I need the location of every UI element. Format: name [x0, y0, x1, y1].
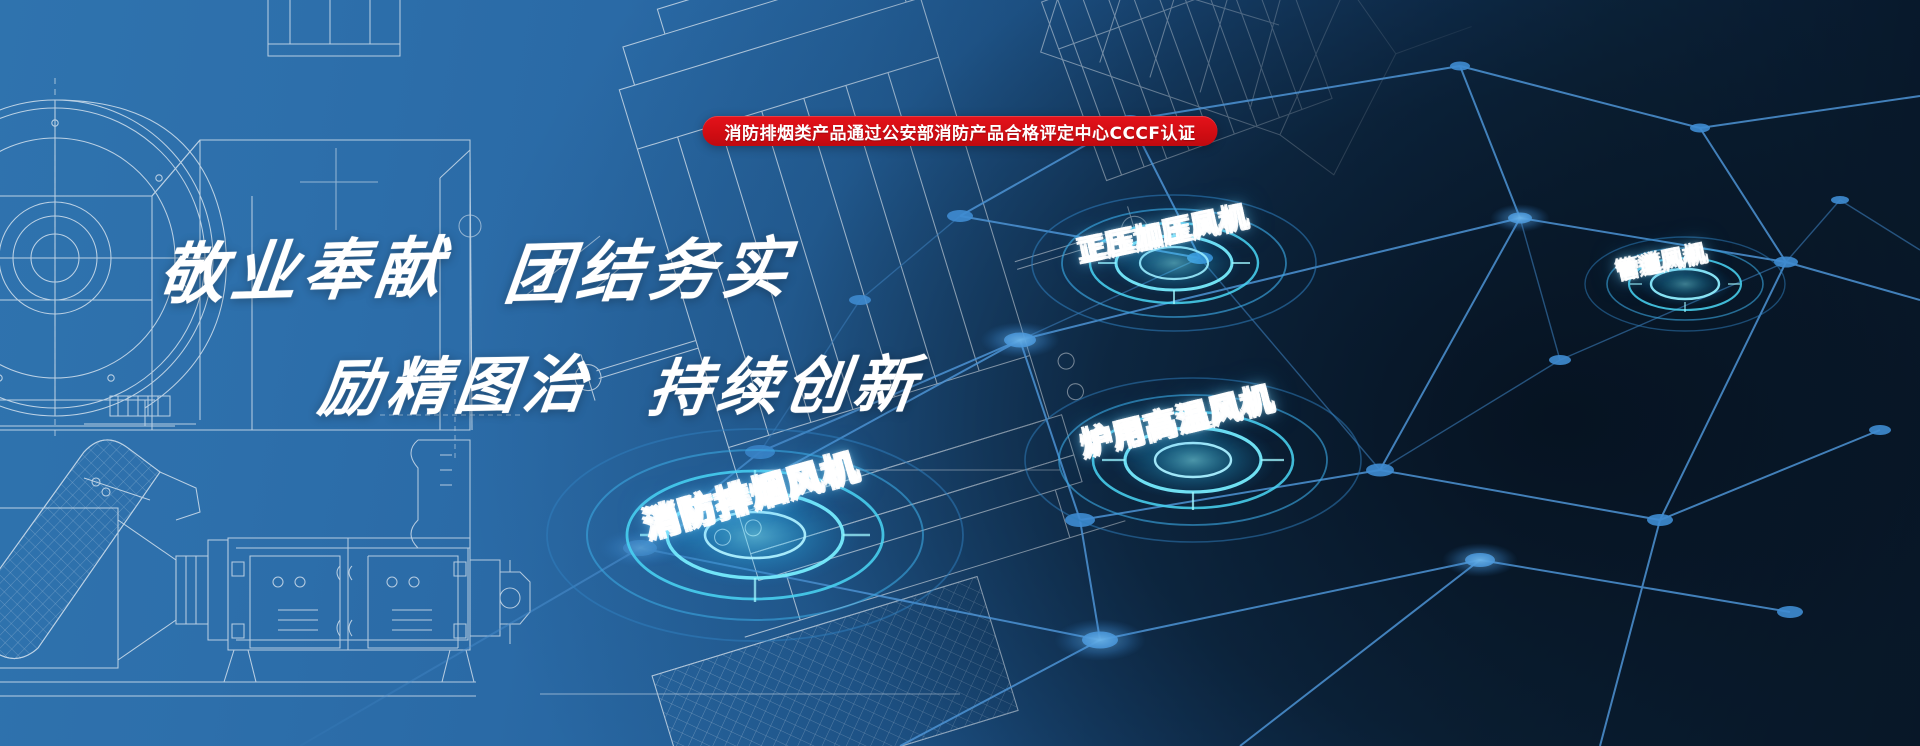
platform-pressurization-fan[interactable]: 正压加压风机 [1024, 188, 1324, 338]
glow-rings-smoke-exhaust-fan [540, 420, 970, 650]
glow-rings-duct-fan [1580, 232, 1790, 336]
slogan-block: 敬业奉献 团结务实 励精图治 持续创新 [150, 218, 930, 426]
glow-rings-furnace-high-temp-fan [1018, 370, 1368, 550]
product-label-pressurization-fan: 正压加压风机 [1074, 194, 1252, 268]
platform-smoke-exhaust-fan[interactable]: 消防排烟风机 [540, 420, 970, 650]
small-box-drawing [268, 0, 400, 56]
slogan-phrase-1: 敬业奉献 [154, 214, 454, 318]
slogan-line-1: 敬业奉献 团结务实 [150, 218, 930, 314]
slogan-phrase-3: 励精图治 [314, 334, 598, 429]
air-handling-unit-drawing [0, 396, 530, 696]
glow-rings-pressurization-fan [1024, 188, 1324, 338]
frame-drawing [1042, 0, 1333, 181]
slogan-phrase-2: 团结务实 [500, 214, 800, 318]
hero-banner: 正压加压风机 管道风机 [0, 0, 1920, 746]
inclined-mesh-duct-drawing [0, 440, 200, 659]
certification-badge[interactable]: 消防排烟类产品通过公安部消防产品合格评定中心CCCF认证 [702, 116, 1217, 146]
platform-duct-fan[interactable]: 管道风机 [1580, 232, 1790, 336]
platform-furnace-high-temp-fan[interactable]: 炉用高温风机 [1018, 370, 1368, 550]
hopper-drawing [1029, 0, 1481, 194]
slogan-line-2: 励精图治 持续创新 [150, 336, 930, 426]
product-label-furnace-high-temp-fan: 炉用高温风机 [1075, 373, 1278, 465]
product-label-duct-fan: 管道风机 [1614, 237, 1710, 285]
certification-badge-text: 消防排烟类产品通过公安部消防产品合格评定中心CCCF认证 [724, 119, 1195, 144]
product-label-smoke-exhaust-fan: 消防排烟风机 [637, 438, 864, 548]
slogan-phrase-4: 持续创新 [644, 334, 928, 429]
